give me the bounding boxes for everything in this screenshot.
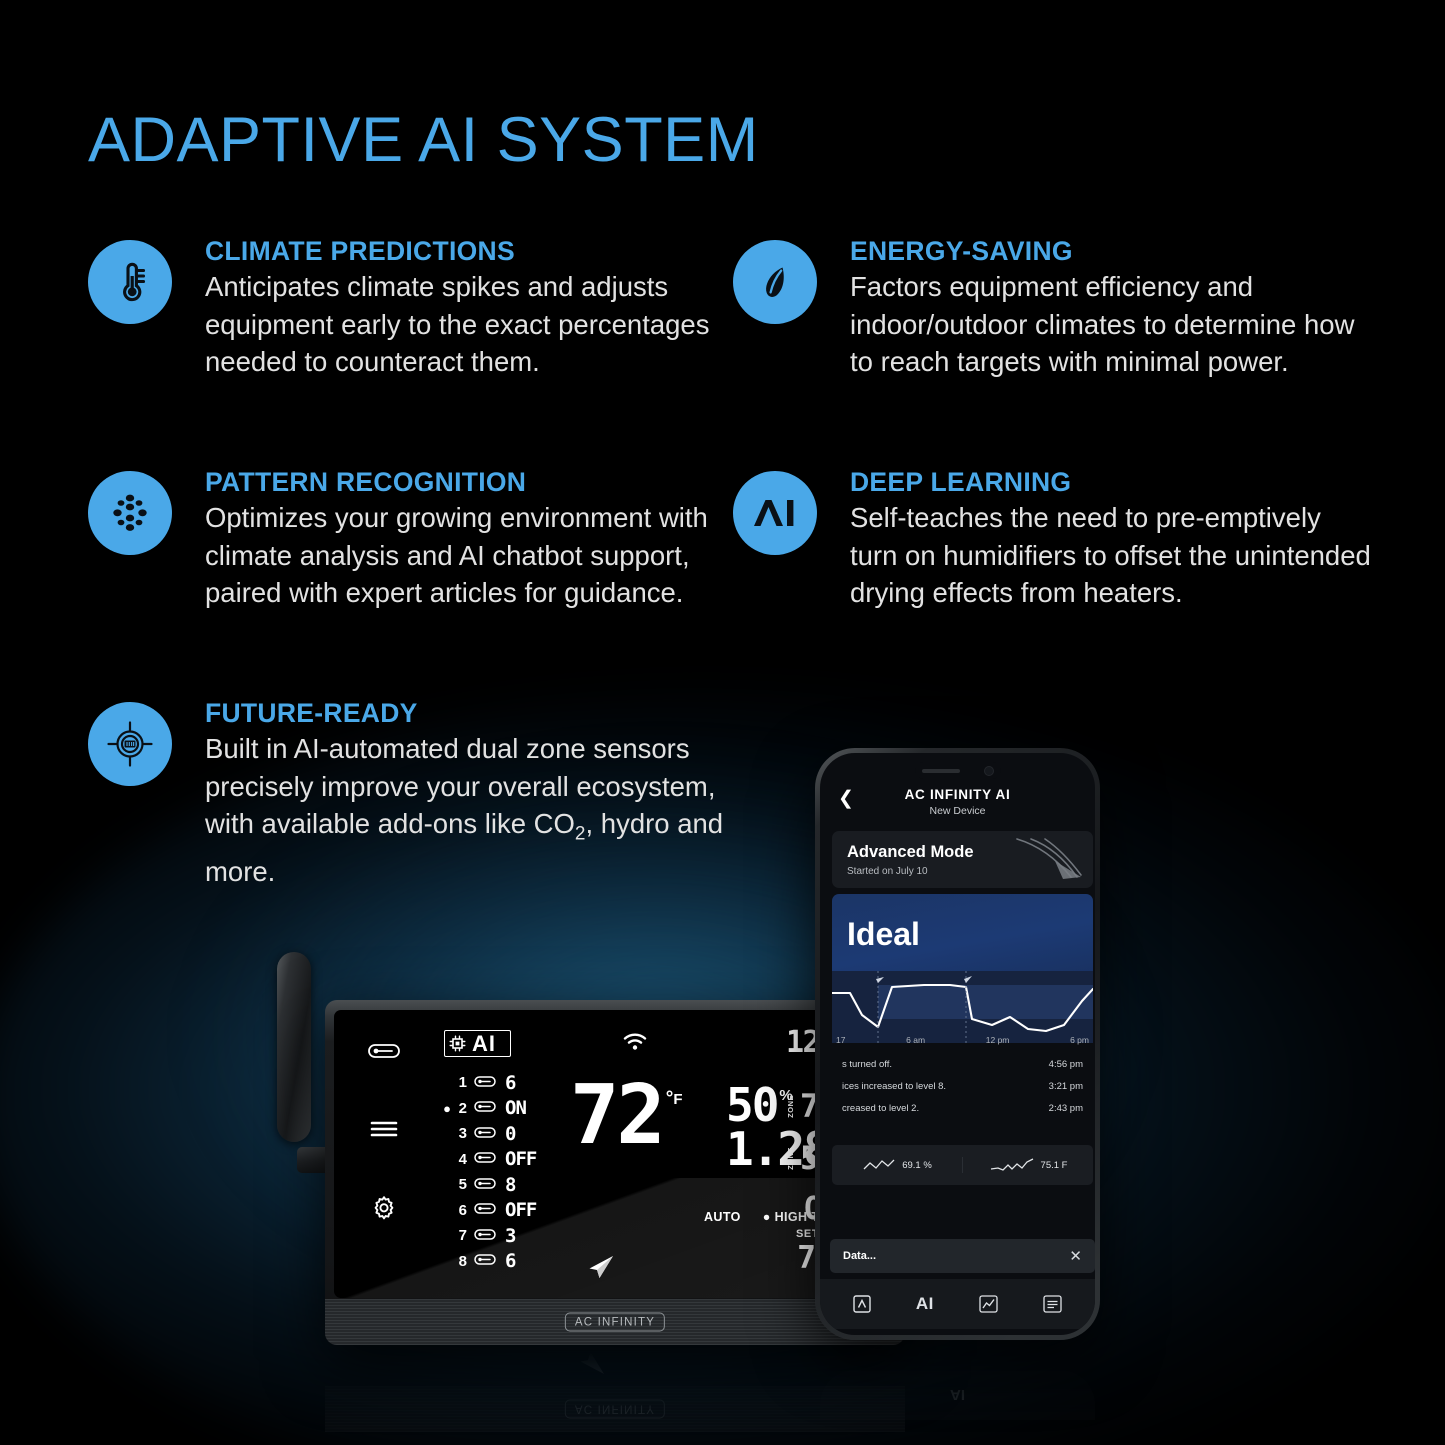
plug-icon bbox=[474, 1176, 496, 1194]
reflection-brand: AC INFINITY bbox=[565, 1400, 665, 1419]
page-title: ADAPTIVE AI SYSTEM bbox=[88, 104, 759, 176]
port-value: OFF bbox=[505, 1148, 536, 1170]
feature-future-ready: FUTURE-READY Built in AI-automated dual … bbox=[88, 698, 768, 891]
port-active-dot: ● bbox=[442, 1102, 452, 1115]
network-nodes-icon bbox=[88, 471, 172, 555]
log-row: creased to level 2. 2:43 pm bbox=[832, 1097, 1093, 1119]
stat-value: 69.1 % bbox=[902, 1160, 932, 1171]
phone-device: ❮ AC INFINITY AI New Device Advanced Mod… bbox=[815, 748, 1100, 1340]
feature-body: Self-teaches the need to pre-emptively t… bbox=[850, 499, 1373, 612]
chip-icon bbox=[449, 1035, 466, 1052]
ai-tab-icon[interactable]: AI bbox=[916, 1294, 934, 1314]
wifi-icon bbox=[622, 1032, 648, 1056]
port-value: 8 bbox=[505, 1174, 515, 1196]
log-text: ices increased to level 8. bbox=[842, 1081, 946, 1092]
phone-notch bbox=[915, 762, 1001, 779]
list-tab-icon[interactable] bbox=[1043, 1295, 1062, 1313]
plug-icon bbox=[474, 1201, 496, 1219]
temperature-readout: 72 °F bbox=[570, 1082, 683, 1149]
ai-tab-label: AI bbox=[916, 1294, 934, 1314]
x-tick: 12 pm bbox=[986, 1035, 1010, 1045]
log-text: s turned off. bbox=[842, 1059, 892, 1070]
ai-badge-label: AI bbox=[472, 1033, 496, 1055]
port-number: 2 bbox=[452, 1100, 467, 1117]
port-value: 6 bbox=[505, 1072, 515, 1094]
port-number: 5 bbox=[452, 1176, 467, 1193]
reflection-plane-icon bbox=[577, 1346, 607, 1376]
port-value: 3 bbox=[505, 1225, 515, 1247]
app-subtitle: New Device bbox=[820, 805, 1095, 817]
port-row[interactable]: 1 6 bbox=[442, 1070, 536, 1096]
port-number: 6 bbox=[452, 1202, 467, 1219]
controller-side-buttons bbox=[360, 1036, 408, 1270]
activity-log: s turned off. 4:56 pm ices increased to … bbox=[832, 1053, 1093, 1119]
feature-body: Built in AI-automated dual zone sensors … bbox=[205, 730, 768, 891]
port-number: 1 bbox=[452, 1074, 467, 1091]
leaf-icon bbox=[733, 240, 817, 324]
phone-screen: ❮ AC INFINITY AI New Device Advanced Mod… bbox=[820, 753, 1095, 1335]
feature-body: Factors equipment efficiency and indoor/… bbox=[850, 268, 1373, 381]
log-time: 4:56 pm bbox=[1049, 1059, 1083, 1070]
brand-badge: AC INFINITY bbox=[565, 1313, 665, 1332]
close-icon[interactable]: ✕ bbox=[1069, 1249, 1082, 1264]
app-title: AC INFINITY AI bbox=[820, 787, 1095, 802]
controller-screen: AI 1 bbox=[334, 1010, 896, 1298]
swoosh-icon bbox=[1011, 835, 1087, 888]
reflection-ai-label: AI bbox=[950, 1387, 965, 1404]
device-icon[interactable] bbox=[853, 1295, 871, 1313]
port-value: 0 bbox=[505, 1123, 515, 1145]
port-number: 3 bbox=[452, 1125, 467, 1142]
log-row: s turned off. 4:56 pm bbox=[832, 1053, 1093, 1075]
temperature-unit: °F bbox=[666, 1088, 683, 1110]
x-tick: 6 pm bbox=[1070, 1035, 1089, 1045]
plug-icon bbox=[474, 1099, 496, 1117]
feature-body-subscript: 2 bbox=[575, 824, 586, 845]
antenna bbox=[277, 952, 311, 1142]
port-row[interactable]: 8 6 bbox=[442, 1249, 536, 1275]
advanced-mode-title: Advanced Mode bbox=[847, 843, 974, 862]
feature-title: ENERGY-SAVING bbox=[850, 236, 1373, 267]
feature-pattern-recognition: PATTERN RECOGNITION Optimizes your growi… bbox=[88, 467, 718, 612]
vpd-chart bbox=[832, 971, 1093, 1043]
feature-climate-predictions: CLIMATE PREDICTIONS Anticipates climate … bbox=[88, 236, 718, 381]
ai-mode-badge: AI bbox=[444, 1030, 511, 1057]
port-row[interactable]: 7 3 bbox=[442, 1223, 536, 1249]
feature-title: CLIMATE PREDICTIONS bbox=[205, 236, 718, 267]
port-number: 7 bbox=[452, 1227, 467, 1244]
stat-temperature: 75.1 F bbox=[962, 1157, 1093, 1173]
thermometer-icon bbox=[88, 240, 172, 324]
log-time: 3:21 pm bbox=[1049, 1081, 1083, 1092]
port-row[interactable]: 5 8 bbox=[442, 1172, 536, 1198]
port-value: ON bbox=[505, 1097, 526, 1119]
sensor-target-icon bbox=[88, 702, 172, 786]
speaker-grille bbox=[922, 769, 960, 773]
sparkline-icon bbox=[989, 1157, 1035, 1173]
stat-humidity: 69.1 % bbox=[832, 1157, 962, 1173]
port-row[interactable]: 4 OFF bbox=[442, 1147, 536, 1173]
mode-auto: AUTO bbox=[704, 1210, 741, 1224]
phone-reflection: AI bbox=[815, 1340, 1100, 1420]
log-time: 2:43 pm bbox=[1049, 1103, 1083, 1114]
advanced-mode-card[interactable]: Advanced Mode Started on July 10 bbox=[832, 831, 1093, 888]
advanced-mode-subtitle: Started on July 10 bbox=[847, 866, 928, 877]
plug-icon bbox=[474, 1125, 496, 1143]
port-list: 1 6 ● 2 ON 3 0 bbox=[442, 1070, 536, 1274]
port-value: OFF bbox=[505, 1199, 536, 1221]
stats-bar: 69.1 % 75.1 F bbox=[832, 1145, 1093, 1185]
port-row[interactable]: 3 0 bbox=[442, 1121, 536, 1147]
zone-temp-label: ZONE bbox=[786, 1095, 795, 1118]
ai-logo-icon bbox=[733, 471, 817, 555]
front-camera bbox=[984, 766, 994, 776]
feature-deep-learning: DEEP LEARNING Self-teaches the need to p… bbox=[733, 467, 1373, 612]
temperature-value: 72 bbox=[570, 1082, 663, 1149]
log-row: ices increased to level 8. 3:21 pm bbox=[832, 1075, 1093, 1097]
menu-button-icon[interactable] bbox=[360, 1114, 408, 1144]
bottom-tab-bar: AI bbox=[820, 1279, 1095, 1329]
feature-title: PATTERN RECOGNITION bbox=[205, 467, 718, 498]
paper-plane-icon bbox=[586, 1254, 616, 1285]
chart-tab-icon[interactable] bbox=[979, 1295, 998, 1313]
plug-icon bbox=[474, 1227, 496, 1245]
sparkline-icon bbox=[862, 1157, 896, 1173]
zone-hum-label: ZONE bbox=[786, 1147, 795, 1170]
feature-title: DEEP LEARNING bbox=[850, 467, 1373, 498]
feature-energy-saving: ENERGY-SAVING Factors equipment efficien… bbox=[733, 236, 1373, 381]
plug-icon bbox=[474, 1150, 496, 1168]
port-number: 4 bbox=[452, 1151, 467, 1168]
gear-button-icon[interactable] bbox=[360, 1192, 408, 1222]
data-bar[interactable]: Data... ✕ bbox=[830, 1239, 1095, 1273]
feature-body: Optimizes your growing environ­ment with… bbox=[205, 499, 718, 612]
x-tick: 17 bbox=[836, 1035, 845, 1045]
plug-icon bbox=[474, 1074, 496, 1092]
feature-title: FUTURE-READY bbox=[205, 698, 768, 729]
port-row[interactable]: ● 2 ON bbox=[442, 1096, 536, 1122]
chart-x-axis: 17 6 am 12 pm 6 pm bbox=[832, 1035, 1093, 1045]
port-value: 6 bbox=[505, 1250, 515, 1272]
ideal-title: Ideal bbox=[847, 916, 920, 953]
data-bar-label: Data... bbox=[843, 1250, 876, 1262]
port-button-icon[interactable] bbox=[360, 1036, 408, 1066]
x-tick: 6 am bbox=[906, 1035, 925, 1045]
port-row[interactable]: 6 OFF bbox=[442, 1198, 536, 1224]
marketing-banner: ADAPTIVE AI SYSTEM CLIMATE PREDICTIONS bbox=[0, 0, 1445, 1445]
port-number: 8 bbox=[452, 1253, 467, 1270]
stat-value: 75.1 F bbox=[1041, 1160, 1068, 1171]
log-text: creased to level 2. bbox=[842, 1103, 919, 1114]
plug-icon bbox=[474, 1252, 496, 1270]
app-header: AC INFINITY AI New Device bbox=[820, 787, 1095, 817]
feature-body: Anticipates climate spikes and adjusts e… bbox=[205, 268, 718, 381]
